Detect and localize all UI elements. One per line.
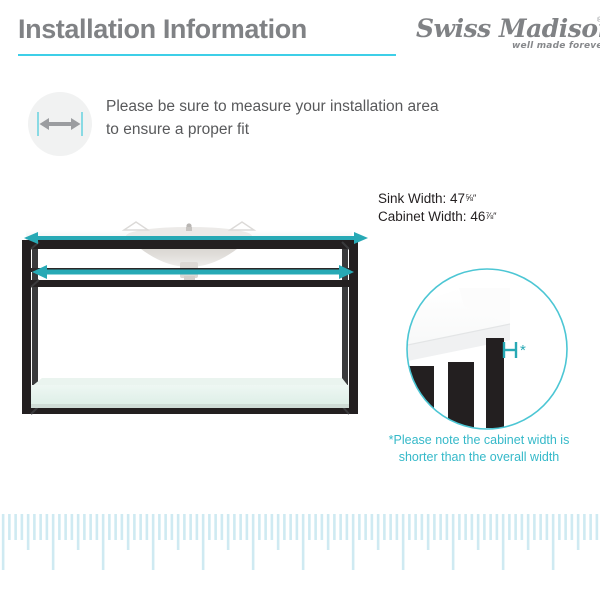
sink-width-fraction: ⅝ bbox=[465, 193, 473, 204]
sink-width-line: Sink Width: 47⅝″ bbox=[378, 190, 598, 208]
dimension-list: Sink Width: 47⅝″ Cabinet Width: 46⅞″ bbox=[378, 190, 598, 226]
brand-logo: Swiss Madison ® well made forever bbox=[416, 12, 600, 58]
page-title: Installation Information bbox=[18, 14, 307, 45]
brand-wordmark: Swiss Madison bbox=[416, 14, 600, 43]
width-arrow-icon bbox=[36, 110, 84, 138]
vanity-illustration bbox=[12, 202, 380, 430]
detail-content bbox=[404, 266, 570, 432]
cabinet-width-unit: ″ bbox=[493, 211, 496, 222]
footnote-line-1: *Please note the cabinet width is bbox=[360, 432, 598, 449]
cabinet-width-fraction: ⅞ bbox=[485, 211, 493, 222]
sink-width-value: 47 bbox=[450, 191, 465, 206]
footnote: *Please note the cabinet width is shorte… bbox=[360, 432, 598, 466]
bottom-glass-shelf bbox=[31, 378, 349, 408]
brand-tagline: well made forever bbox=[512, 41, 600, 51]
sink-width-unit: ″ bbox=[473, 193, 476, 204]
overhang-detail-callout: * bbox=[404, 266, 570, 432]
sink-width-label: Sink Width: bbox=[378, 191, 446, 206]
cabinet-width-line: Cabinet Width: 46⅞″ bbox=[378, 208, 598, 226]
footnote-line-2: shorter than the overall width bbox=[360, 449, 598, 466]
measure-note: Please be sure to measure your installat… bbox=[28, 92, 448, 158]
overhang-asterisk-icon: * bbox=[520, 342, 526, 359]
detail-circle: * bbox=[404, 266, 570, 432]
cabinet-width-value: 46 bbox=[470, 209, 485, 224]
title-underline-rule bbox=[18, 54, 396, 56]
measure-note-text: Please be sure to measure your installat… bbox=[106, 95, 451, 141]
header: Installation Information Swiss Madison ®… bbox=[18, 14, 582, 64]
cabinet-width-label: Cabinet Width: bbox=[378, 209, 467, 224]
decorative-ruler bbox=[0, 512, 600, 600]
